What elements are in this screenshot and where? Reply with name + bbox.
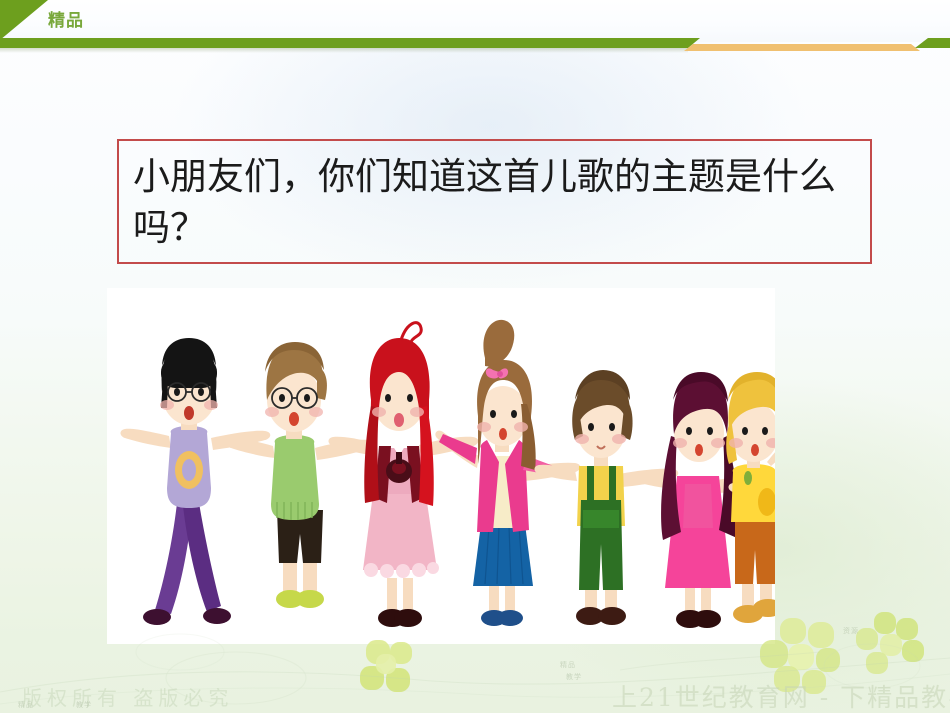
header-title: 精品 [48,9,84,33]
watermark-tiny-c: 资源 [843,626,859,636]
header-bar-shadow [0,48,688,53]
header-bar-left [0,38,688,48]
slide-header: 精品 [0,0,950,50]
flower-bottom-center [352,640,422,710]
header-band [0,0,950,42]
watermark-tiny-d: 精品 [18,700,34,710]
header-gold-accent [693,44,911,51]
header-bar-right [928,38,950,48]
watermark-left: 版权所有 盗版必究 [22,682,233,711]
header-triangle-icon [0,0,48,40]
children-illustration [107,288,775,644]
watermark-right: 上21世纪教育网 - 下精品教学资源 [612,678,950,713]
slide-canvas: 精品 小朋友们，你们知道这首儿歌的主题是什么吗？ [0,0,950,713]
question-text: 小朋友们，你们知道这首儿歌的主题是什么吗？ [133,151,863,253]
watermark-tiny-a: 精品 [560,660,576,670]
watermark-tiny-e: 教学 [76,700,92,710]
watermark-tiny-b: 教学 [566,672,582,682]
question-box: 小朋友们，你们知道这首儿歌的主题是什么吗？ [117,139,872,264]
